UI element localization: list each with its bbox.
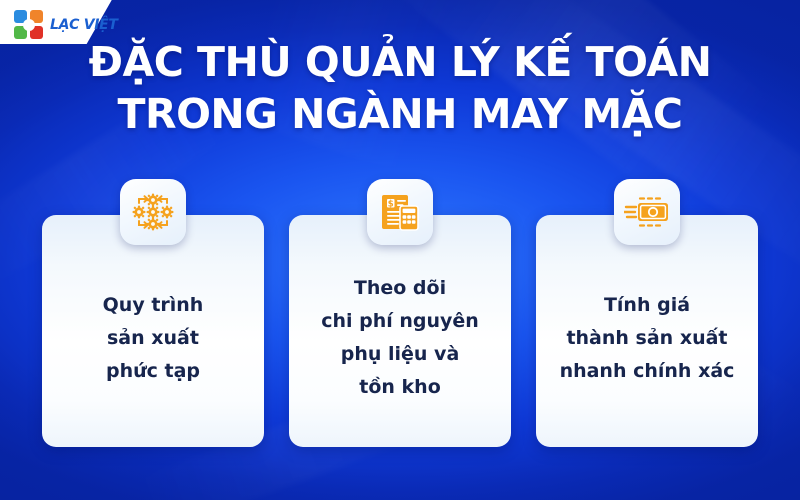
feature-card-label: Quy trình sản xuất phức tạp bbox=[93, 289, 214, 388]
feature-card-label: Tính giá thành sản xuất nhanh chính xác bbox=[550, 289, 745, 388]
invoice-calculator-icon: $ bbox=[367, 179, 433, 245]
brand-wordmark: LẠC VIỆT bbox=[50, 17, 118, 33]
page-title: ĐẶC THÙ QUẢN LÝ KẾ TOÁN TRONG NGÀNH MAY … bbox=[0, 36, 800, 140]
feature-card[interactable]: $ Theo dõi chi phí nguyên phụ liệu và tồ… bbox=[289, 215, 511, 447]
svg-text:$: $ bbox=[388, 199, 394, 209]
feature-card[interactable]: Quy trình sản xuất phức tạp bbox=[42, 215, 264, 447]
feature-card-list: Quy trình sản xuất phức tạp $ bbox=[42, 215, 758, 447]
infographic-canvas: LẠC VIỆT ĐẶC THÙ QUẢN LÝ KẾ TOÁN TRONG N… bbox=[0, 0, 800, 500]
feature-card[interactable]: Tính giá thành sản xuất nhanh chính xác bbox=[536, 215, 758, 447]
title-line-1: ĐẶC THÙ QUẢN LÝ KẾ TOÁN bbox=[0, 36, 800, 88]
title-line-2: TRONG NGÀNH MAY MẶC bbox=[0, 88, 800, 140]
gears-process-cycle-icon bbox=[120, 179, 186, 245]
feature-card-label: Theo dõi chi phí nguyên phụ liệu và tồn … bbox=[311, 272, 489, 404]
fast-banknote-icon bbox=[614, 179, 680, 245]
